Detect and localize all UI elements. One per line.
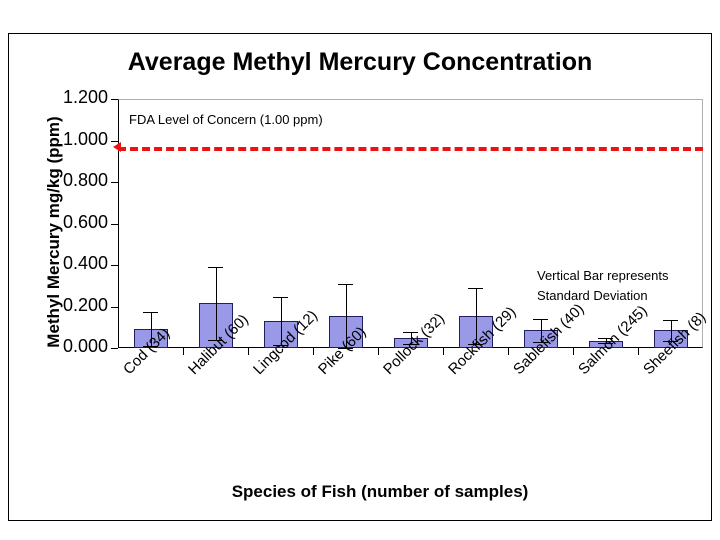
x-axis-tick-mark [183,348,184,355]
y-axis-tick-mark [111,348,118,349]
x-axis-title: Species of Fish (number of samples) [100,482,660,502]
error-bar-cap-upper [273,297,288,298]
chart-figure: Average Methyl Mercury Concentration Met… [0,0,720,540]
error-bar-cap-upper [143,312,158,313]
x-axis-tick-mark [378,348,379,355]
x-axis-tick-mark [573,348,574,355]
y-axis-tick-mark [111,224,118,225]
x-axis-tick-mark [248,348,249,355]
y-axis-tick-mark [111,265,118,266]
fda-reference-marker-icon [113,142,121,152]
y-axis-tick-label: 0.200 [38,295,108,316]
y-axis-tick-label: 0.600 [38,212,108,233]
error-bar-cap-upper [533,319,548,320]
error-bar-cap-upper [208,267,223,268]
annotation-line-2: Standard Deviation [537,288,648,303]
error-bar-cap-upper [468,288,483,289]
fda-reference-line [118,147,703,151]
y-axis-tick-label: 0.400 [38,253,108,274]
y-axis-tick-label: 0.000 [38,336,108,357]
annotation-line-1: Vertical Bar represents [537,268,669,283]
y-axis-tick-label: 0.800 [38,170,108,191]
y-axis-tick-label: 1.200 [38,87,108,108]
y-axis-tick-mark [111,182,118,183]
x-axis-tick-mark [508,348,509,355]
y-axis-tick-label: 1.000 [38,129,108,150]
error-bar-cap-upper [338,284,353,285]
y-axis-tick-mark [111,99,118,100]
chart-title: Average Methyl Mercury Concentration [0,48,720,77]
x-axis-tick-mark [638,348,639,355]
error-bar-cap-upper [663,320,678,321]
fda-reference-label: FDA Level of Concern (1.00 ppm) [129,112,323,127]
error-bar-line [216,267,217,340]
y-axis-tick-mark [111,307,118,308]
x-axis-tick-mark [313,348,314,355]
x-axis-tick-mark [443,348,444,355]
